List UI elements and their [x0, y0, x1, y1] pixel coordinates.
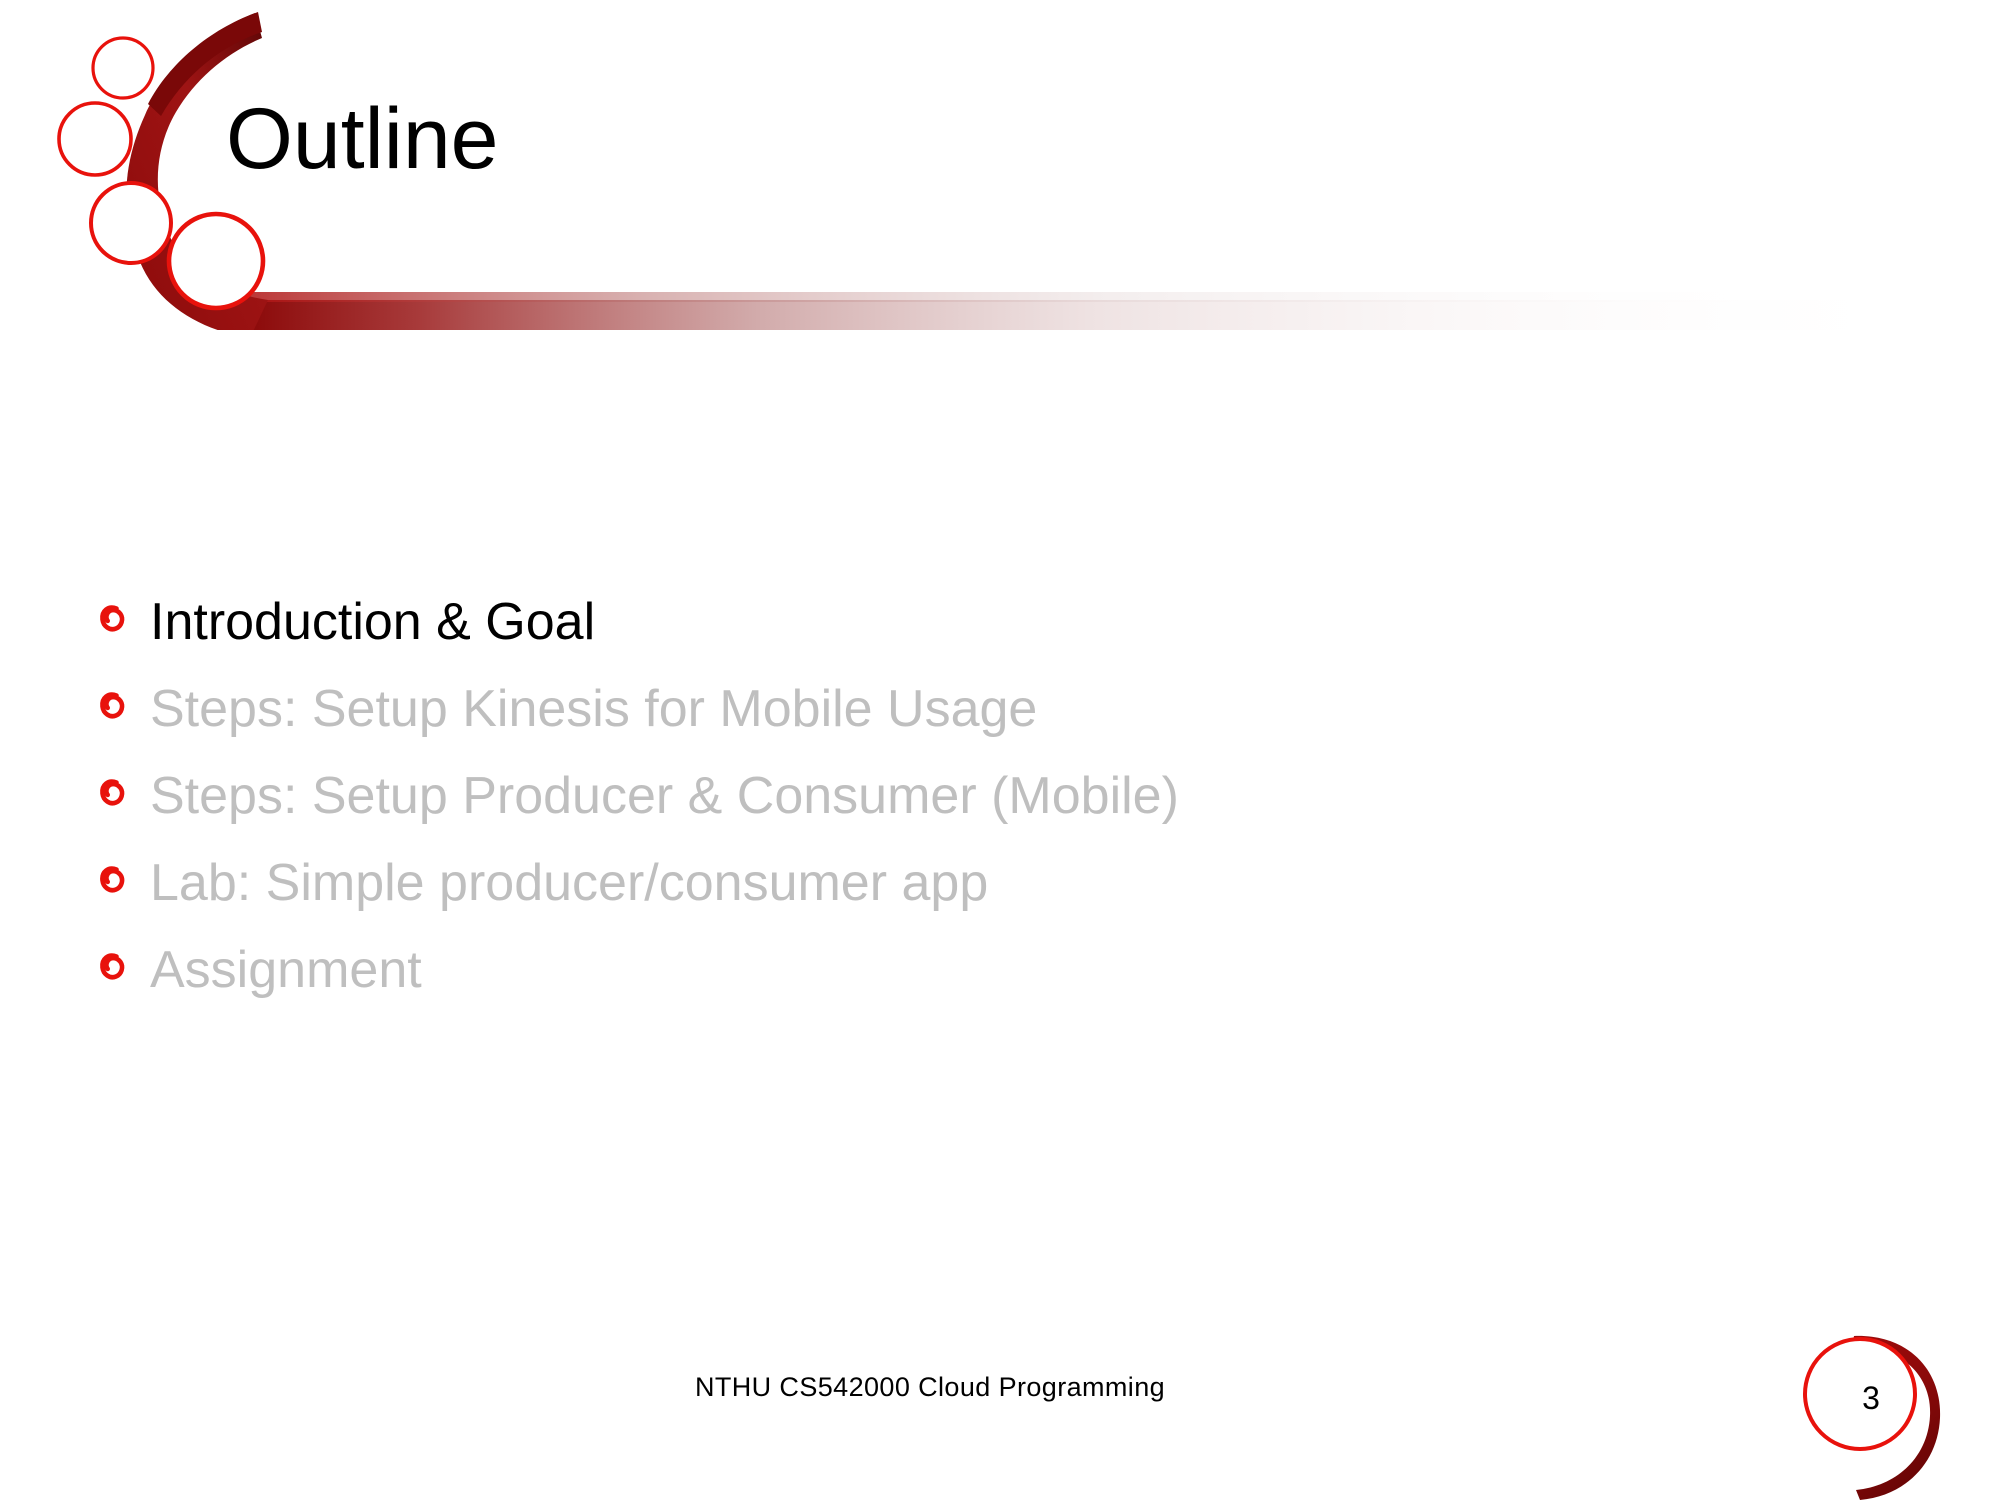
ring-spiral-icon — [96, 846, 150, 896]
outline-list: Introduction & Goal Steps: Setup Kinesis… — [96, 585, 1796, 1020]
ring-spiral-icon — [96, 759, 150, 809]
ring-spiral-icon — [96, 933, 150, 983]
list-item-label: Introduction & Goal — [150, 585, 595, 659]
ring-spiral-icon — [96, 585, 150, 635]
list-item[interactable]: Introduction & Goal — [96, 585, 1796, 660]
list-item-label: Steps: Setup Producer & Consumer (Mobile… — [150, 759, 1179, 833]
list-item-label: Lab: Simple producer/consumer app — [150, 846, 988, 920]
list-item-label: Steps: Setup Kinesis for Mobile Usage — [150, 672, 1037, 746]
list-item[interactable]: Lab: Simple producer/consumer app — [96, 846, 1796, 921]
header-gradient-bar — [250, 292, 1970, 330]
list-item[interactable]: Steps: Setup Producer & Consumer (Mobile… — [96, 759, 1796, 834]
list-item[interactable]: Assignment — [96, 933, 1796, 1008]
list-item[interactable]: Steps: Setup Kinesis for Mobile Usage — [96, 672, 1796, 747]
footer-text: NTHU CS542000 Cloud Programming — [0, 1372, 1860, 1403]
ring-spiral-icon — [96, 672, 150, 722]
list-item-label: Assignment — [150, 933, 422, 1007]
page-title: Outline — [226, 96, 499, 182]
page-number: 3 — [1838, 1380, 1904, 1417]
